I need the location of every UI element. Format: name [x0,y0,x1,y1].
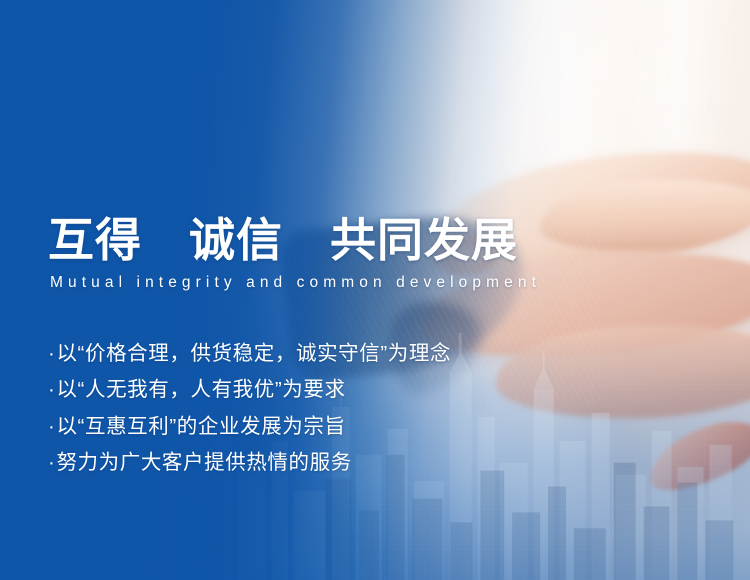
banner-content: 互得 诚信 共同发展 Mutual integrity and common d… [48,216,708,482]
bullet-dot-icon: · [48,409,55,446]
promo-banner: 互得 诚信 共同发展 Mutual integrity and common d… [0,0,750,580]
list-item: · 以“互惠互利”的企业发展为宗旨 [48,409,708,446]
list-item: · 以“价格合理，供货稳定，诚实守信”为理念 [48,336,708,373]
headline: 互得 诚信 共同发展 [48,216,708,266]
list-item-label: 努力为广大客户提供热情的服务 [56,445,351,482]
slogan-list: · 以“价格合理，供货稳定，诚实守信”为理念 · 以“人无我有，人有我优”为要求… [48,336,708,482]
bullet-dot-icon: · [48,372,55,409]
list-item: · 努力为广大客户提供热情的服务 [48,445,708,482]
list-item: · 以“人无我有，人有我优”为要求 [48,372,708,409]
subheadline: Mutual integrity and common development [50,274,708,292]
bullet-dot-icon: · [48,445,55,482]
list-item-label: 以“人无我有，人有我优”为要求 [56,372,345,409]
list-item-label: 以“互惠互利”的企业发展为宗旨 [56,409,345,446]
bullet-dot-icon: · [48,336,55,373]
list-item-label: 以“价格合理，供货稳定，诚实守信”为理念 [56,336,451,373]
